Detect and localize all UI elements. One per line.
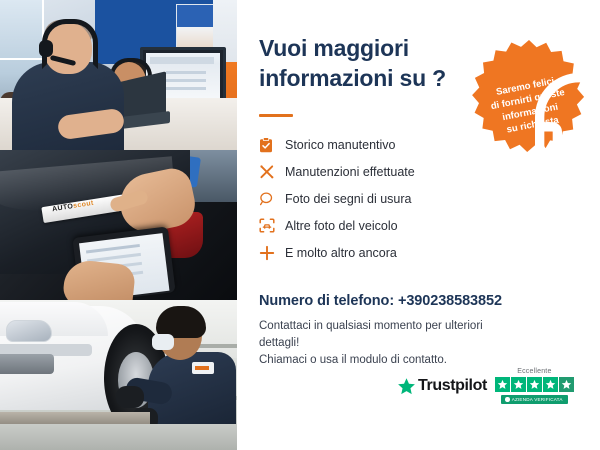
contact-line-2: Chiamaci o usa il modulo di contatto. [259, 352, 519, 369]
feature-item-molto-altro: E molto altro ancora [259, 239, 509, 266]
licence-plate-inspection-photo: AUTOscout [0, 150, 237, 300]
trustpilot-rating-label: Eccellente [517, 368, 551, 375]
page-title-line-1: Vuoi maggiori [259, 33, 474, 63]
trustpilot-star-5 [559, 377, 574, 392]
workshop-floor [0, 424, 237, 450]
content-panel: Vuoi maggiori informazioni su ? Saremo f… [237, 0, 600, 450]
car-grille [0, 354, 54, 374]
feature-label: E molto altro ancora [285, 245, 397, 261]
trustpilot-wordmark: Trustpilot [418, 377, 487, 395]
trustpilot-star-2 [511, 377, 526, 392]
phone-number-line: Numero di telefono: +390238583852 [259, 293, 502, 309]
feature-label: Storico manutentivo [285, 137, 395, 153]
verified-business-label: AZIENDA VERIFICATA [512, 397, 563, 402]
feature-item-manutenzioni-effettuate: Manutenzioni effettuate [259, 158, 509, 185]
trustpilot-star-row [495, 377, 574, 392]
trustpilot-star-3 [527, 377, 542, 392]
verified-check-icon [505, 397, 510, 402]
feature-label: Manutenzioni effettuate [285, 164, 415, 180]
uniform-logo [192, 362, 214, 374]
trustpilot-star-icon [397, 377, 416, 396]
clipboard-check-icon [259, 137, 285, 153]
promo-banner: AUTOscout [0, 0, 600, 450]
page-title: Vuoi maggiori informazioni su ? [259, 33, 474, 93]
mechanic-glove-upper [116, 386, 144, 408]
mechanic-face-mask [152, 334, 174, 350]
trustpilot-rating[interactable]: Trustpilot Eccellente [397, 368, 574, 404]
feature-label: Foto dei segni di usura [285, 191, 411, 207]
tools-cross-icon [259, 164, 285, 180]
feature-item-foto-segni-usura: Foto dei segni di usura [259, 185, 509, 212]
feature-list: Storico manutentivo Manutenzioni effettu… [259, 131, 509, 266]
title-underline-rule [259, 114, 293, 117]
trustpilot-star-4 [543, 377, 558, 392]
call-centre-agents-photo [0, 0, 237, 150]
photo-column: AUTOscout [0, 0, 237, 450]
feature-item-storico-manutentivo: Storico manutentivo [259, 131, 509, 158]
trustpilot-logo: Trustpilot [397, 377, 487, 396]
verified-business-badge: AZIENDA VERIFICATA [501, 395, 567, 404]
trustpilot-score-block: Eccellente [495, 368, 574, 404]
contact-line-1: Contattaci in qualsiasi momento per ulte… [259, 318, 519, 352]
feature-item-altre-foto-veicolo: Altre foto del veicolo [259, 212, 509, 239]
contact-instructions: Contattaci in qualsiasi momento per ulte… [259, 318, 519, 369]
car-headlight [6, 320, 52, 342]
trustpilot-star-1 [495, 377, 510, 392]
plus-icon [259, 245, 285, 261]
photo-frame-car-icon [259, 218, 285, 233]
feature-label: Altre foto del veicolo [285, 218, 398, 234]
tyre-service-photo [0, 300, 237, 450]
magnifier-icon [259, 191, 285, 207]
page-title-line-2: informazioni su ? [259, 63, 474, 93]
